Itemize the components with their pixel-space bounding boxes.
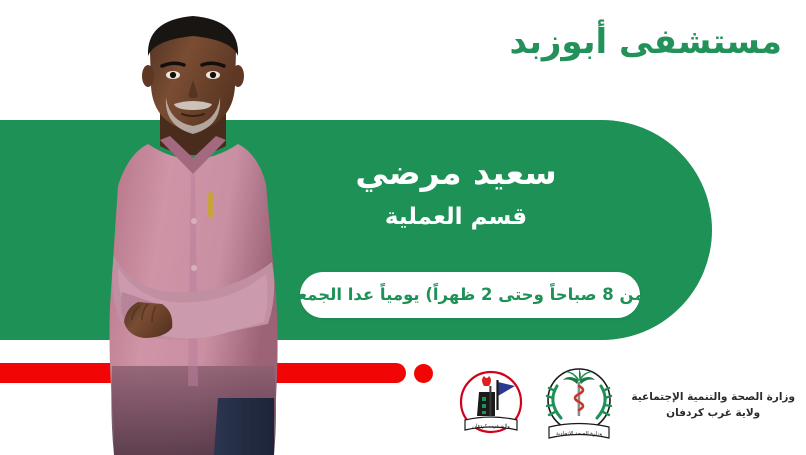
ministry-of-health-emblem-icon: وزارة الصحة الاتحادية — [539, 364, 619, 448]
working-hours-badge: (من 8 صباحاً وحتى 2 ظهراً) يومياً عدا ال… — [300, 272, 640, 318]
staff-department: قسم العملية — [256, 203, 656, 233]
ministry-label: وزارة الصحة والتنمية الإجتماعية ولاية غر… — [627, 390, 795, 422]
ministry-line-1: وزارة الصحة والتنمية الإجتماعية — [631, 390, 795, 406]
staff-name: سعيد مرضي — [256, 152, 656, 193]
west-kordofan-state-emblem-icon: ولاية غرب كردفان — [451, 364, 531, 448]
footer: وزارة الصحة والتنمية الإجتماعية ولاية غر… — [455, 362, 795, 450]
staff-info-block: سعيد مرضي قسم العملية — [256, 152, 656, 233]
ministry-line-2: ولاية غرب كردفان — [631, 406, 795, 422]
svg-text:وزارة الصحة الاتحادية: وزارة الصحة الاتحادية — [556, 431, 602, 437]
page-title: مستشفى أبوزبد — [509, 22, 782, 63]
red-accent-dot — [414, 364, 433, 383]
poster-canvas: مستشفى أبوزبد سعيد مرضي قسم العملية (من … — [0, 0, 806, 455]
svg-text:ولاية غرب كردفان: ولاية غرب كردفان — [473, 424, 511, 430]
working-hours-text: (من 8 صباحاً وحتى 2 ظهراً) يومياً عدا ال… — [288, 287, 652, 304]
